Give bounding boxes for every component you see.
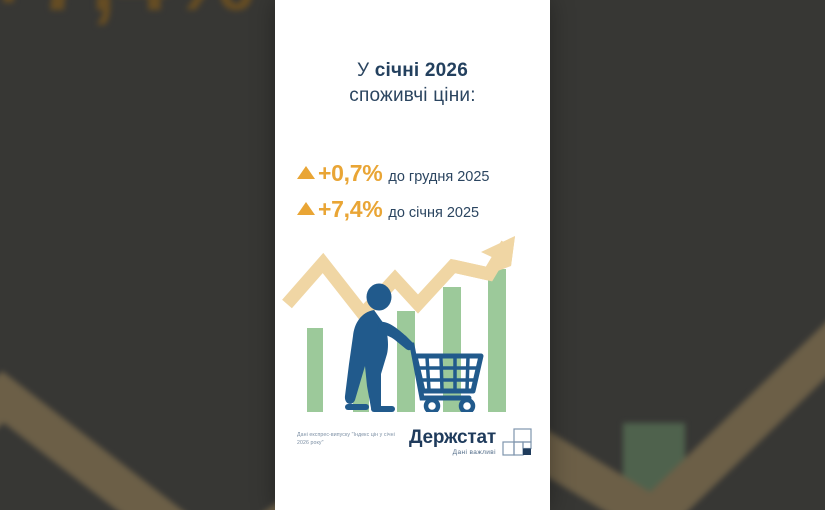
title-bold: січні 2026 [375, 60, 468, 81]
card-footer: Дані експрес-випуску "Індекс цін у січні… [275, 430, 550, 476]
title-line-1: У січні 2026 [275, 58, 550, 83]
stat-row-annual: +7,4% до січня 2025 [275, 196, 550, 223]
stat-comparison-annual: до січня 2025 [388, 205, 479, 221]
stat-row-monthly: +0,7% до грудня 2025 [275, 160, 550, 187]
illustration [275, 236, 550, 412]
derzhstat-logo[interactable]: Держстат Дані важливі [409, 428, 532, 456]
bar-5 [488, 269, 506, 412]
content-card: У січні 2026 споживчі ціни: +0,7% до гру… [275, 0, 550, 510]
logo-tagline: Дані важливі [409, 449, 496, 456]
bar-3 [397, 311, 415, 412]
up-triangle-icon [297, 202, 315, 215]
stat-comparison-monthly: до грудня 2025 [388, 169, 489, 185]
logo-grid-mark-icon [502, 428, 532, 456]
page-title: У січні 2026 споживчі ціни: [275, 58, 550, 108]
stat-value-annual: +7,4% [318, 196, 382, 223]
title-prefix: У [357, 60, 375, 81]
stat-value-monthly: +0,7% [318, 160, 382, 187]
logo-name: Держстат [409, 428, 496, 448]
stats-list: +0,7% до грудня 2025 +7,4% до січня 2025 [275, 160, 550, 232]
bar-1 [307, 328, 323, 412]
rising-arrow-icon [287, 236, 515, 314]
illustration-svg [275, 236, 550, 412]
title-line-2: споживчі ціни: [275, 83, 550, 108]
up-triangle-icon [297, 166, 315, 179]
source-note: Дані експрес-випуску "Індекс цін у січні… [297, 432, 407, 447]
screenshot-root: +0,7 ня 2025 +7,4% 2025 У січні 2026 спо… [0, 0, 825, 510]
